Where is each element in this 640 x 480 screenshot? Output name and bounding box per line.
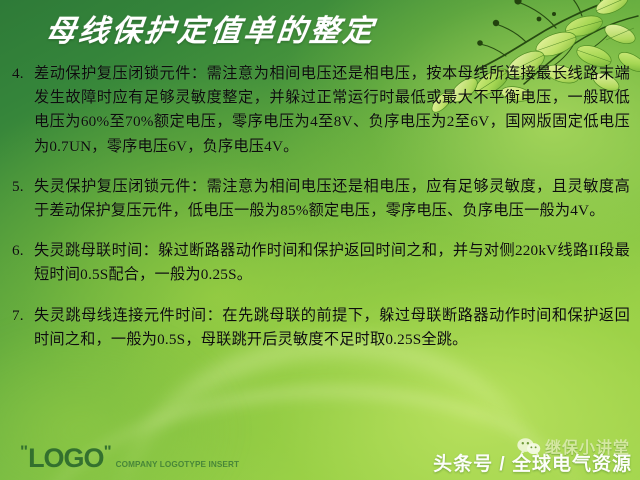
logo-quote-right: " (104, 442, 112, 461)
list-item: 7. 失灵跳母线连接元件时间：在先跳母联的前提下，躲过母联断路器动作时间和保护返… (12, 304, 630, 352)
list-item: 4. 差动保护复压闭锁元件：需注意为相间电压还是相电压，按本母线所连接最长线路末… (12, 62, 630, 159)
footer-logo: "LOGO" COMPANY LOGOTYPE INSERT (20, 443, 239, 472)
list-item-marker: 7. (12, 304, 34, 328)
logo-subtitle: COMPANY LOGOTYPE INSERT (116, 460, 239, 472)
list-item: 6. 失灵跳母联时间：躲过断路器动作时间和保护返回时间之和，并与对侧220kV线… (12, 239, 630, 287)
page-title: 母线保护定值单的整定 (44, 6, 449, 50)
slide-canvas: 母线保护定值单的整定 4. 差动保护复压闭锁元件：需注意为相间电压还是相电压，按… (0, 0, 640, 480)
content-body: 4. 差动保护复压闭锁元件：需注意为相间电压还是相电压，按本母线所连接最长线路末… (12, 62, 630, 368)
list-item-marker: 6. (12, 239, 34, 263)
list-item-text: 失灵跳母联时间：躲过断路器动作时间和保护返回时间之和，并与对侧220kV线路II… (34, 239, 630, 287)
list-item: 5. 失灵保护复压闭锁元件：需注意为相间电压还是相电压，应有足够灵敏度，且灵敏度… (12, 175, 630, 223)
logo-text: LOGO (28, 443, 104, 473)
logo-wordmark: "LOGO" (20, 443, 112, 472)
watermark-handle: 头条号 / 全球电气资源 (433, 449, 632, 476)
list-item-text: 失灵保护复压闭锁元件：需注意为相间电压还是相电压，应有足够灵敏度，且灵敏度高于差… (34, 175, 630, 223)
list-item-marker: 5. (12, 175, 34, 199)
list-item-marker: 4. (12, 62, 34, 86)
list-item-text: 差动保护复压闭锁元件：需注意为相间电压还是相电压，按本母线所连接最长线路末端发生… (34, 62, 630, 159)
logo-quote-left: " (20, 442, 28, 461)
watermark-block: 继保小讲堂 头条号 / 全球电气资源 (436, 434, 636, 478)
list-item-text: 失灵跳母线连接元件时间：在先跳母联的前提下，躲过母联断路器动作时间和保护返回时间… (34, 304, 630, 352)
title-container: 母线保护定值单的整定 (46, 6, 446, 50)
